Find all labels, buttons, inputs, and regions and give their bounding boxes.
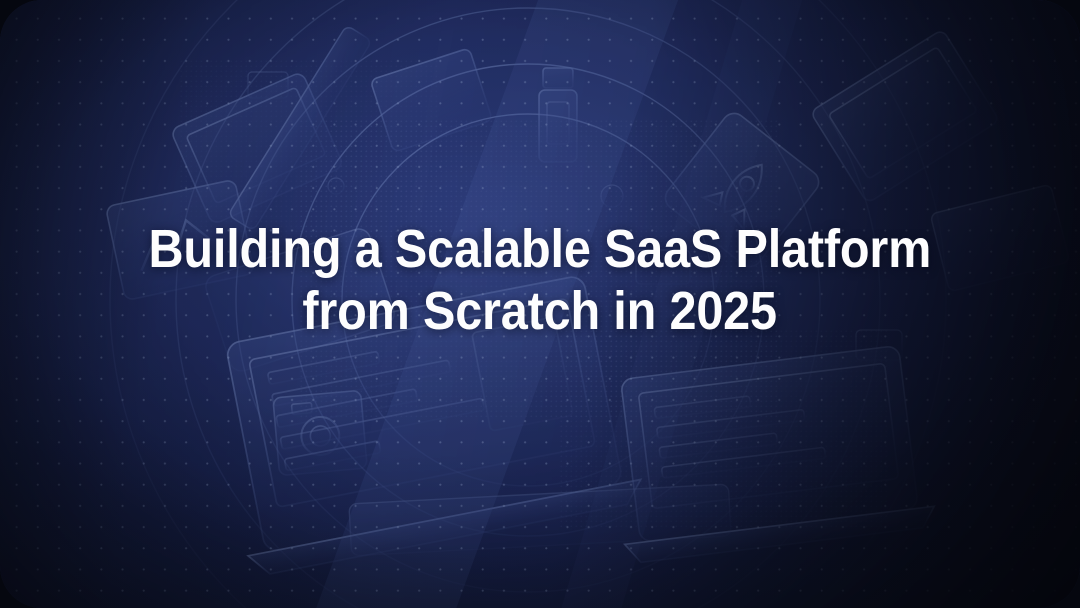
hero-banner: Building a Scalable SaaS Platform from S…	[0, 0, 1080, 608]
background-vignette	[0, 0, 1080, 608]
